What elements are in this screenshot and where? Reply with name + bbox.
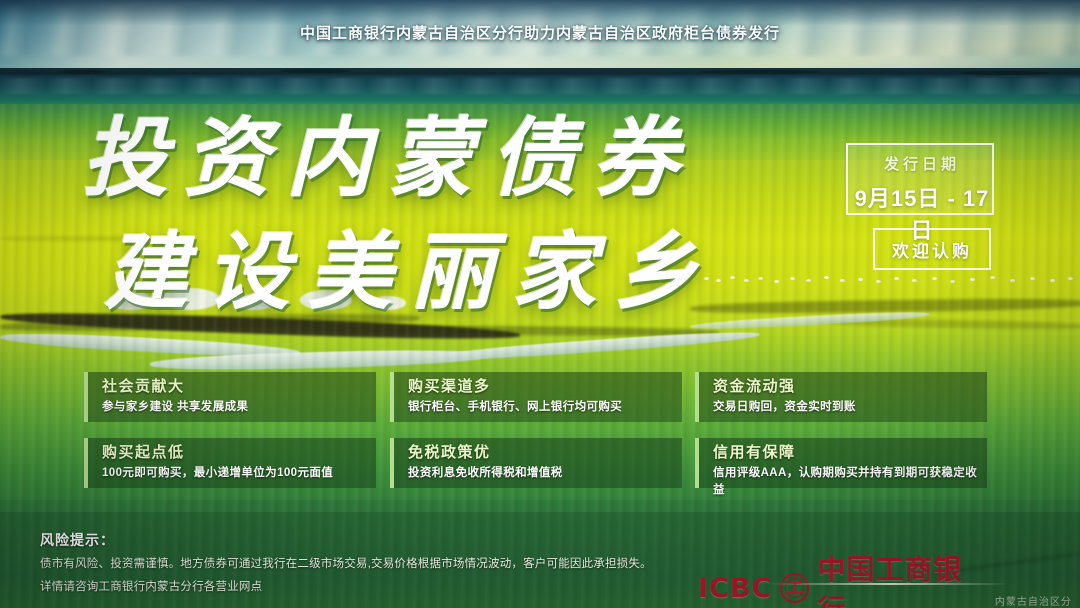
welcome-subscribe-badge[interactable]: 欢迎认购	[873, 228, 991, 270]
icbc-latin-wordmark: ICBC	[698, 573, 772, 604]
hero-title-line2: 建设美丽家乡	[104, 205, 716, 326]
feature-subtitle: 交易日购回，资金实时到账	[713, 399, 987, 416]
feature-card: 购买起点低 100元即可购买，最小递增单位为100元面值	[84, 438, 376, 488]
risk-disclaimer-line1: 债市有风险、投资需谨慎。地方债券可通过我行在二级市场交易,交易价格根据市场情况波…	[40, 555, 652, 571]
feature-card: 资金流动强 交易日购回，资金实时到账	[695, 372, 987, 422]
feature-subtitle: 信用评级AAA，认购期购买并持有到期可获稳定收益	[713, 465, 987, 499]
feature-card: 购买渠道多 银行柜台、手机银行、网上银行均可购买	[390, 372, 682, 422]
feature-card: 免税政策优 投资利息免收所得税和增值税	[390, 438, 682, 488]
sheep-flock	[700, 276, 1080, 284]
feature-title: 资金流动强	[713, 377, 987, 396]
icbc-emblem-icon: 工	[780, 573, 809, 603]
logo-underline	[769, 583, 1011, 585]
feature-subtitle: 投资利息免收所得税和增值税	[408, 465, 682, 482]
page-headline: 中国工商银行内蒙古自治区分行助力内蒙古自治区政府柜台债券发行	[0, 22, 1080, 43]
feature-title: 信用有保障	[713, 443, 987, 462]
feature-title: 购买渠道多	[408, 377, 682, 396]
feature-subtitle: 100元即可购买，最小递增单位为100元面值	[102, 465, 376, 482]
feature-grid: 社会贡献大 参与家乡建设 共享发展成果 购买渠道多 银行柜台、手机银行、网上银行…	[84, 372, 1036, 490]
issue-date-badge: 发行日期 9月15日 - 17日	[846, 143, 994, 215]
feature-title: 购买起点低	[102, 443, 376, 462]
icbc-bank-name: 中国工商银行	[817, 548, 985, 608]
feature-subtitle: 参与家乡建设 共享发展成果	[102, 399, 376, 416]
icbc-logo: ICBC 工 中国工商银行 内蒙古自治区分行	[698, 548, 1080, 608]
icbc-branch-name: 内蒙古自治区分行	[995, 593, 1080, 608]
islet-shape	[700, 70, 820, 74]
issue-date-label: 发行日期	[848, 153, 996, 174]
icbc-emblem-glyph: 工	[787, 581, 802, 596]
poster-canvas: 中国工商银行内蒙古自治区分行助力内蒙古自治区政府柜台债券发行 投资内蒙债券 建设…	[0, 0, 1080, 608]
risk-disclaimer-title: 风险提示：	[40, 530, 115, 550]
islet-shape	[60, 70, 106, 74]
feature-title: 免税政策优	[408, 443, 682, 462]
islet-shape	[960, 71, 1050, 75]
islet-shape	[280, 69, 350, 73]
risk-disclaimer-line2: 详情请咨询工商银行内蒙古分行各营业网点	[40, 578, 262, 594]
feature-title: 社会贡献大	[102, 377, 376, 396]
feature-subtitle: 银行柜台、手机银行、网上银行均可购买	[408, 399, 682, 416]
welcome-subscribe-label: 欢迎认购	[892, 237, 972, 262]
feature-card: 信用有保障 信用评级AAA，认购期购买并持有到期可获稳定收益	[695, 438, 987, 488]
feature-card: 社会贡献大 参与家乡建设 共享发展成果	[84, 372, 376, 422]
hero-title-line1: 投资内蒙债券	[82, 88, 694, 213]
